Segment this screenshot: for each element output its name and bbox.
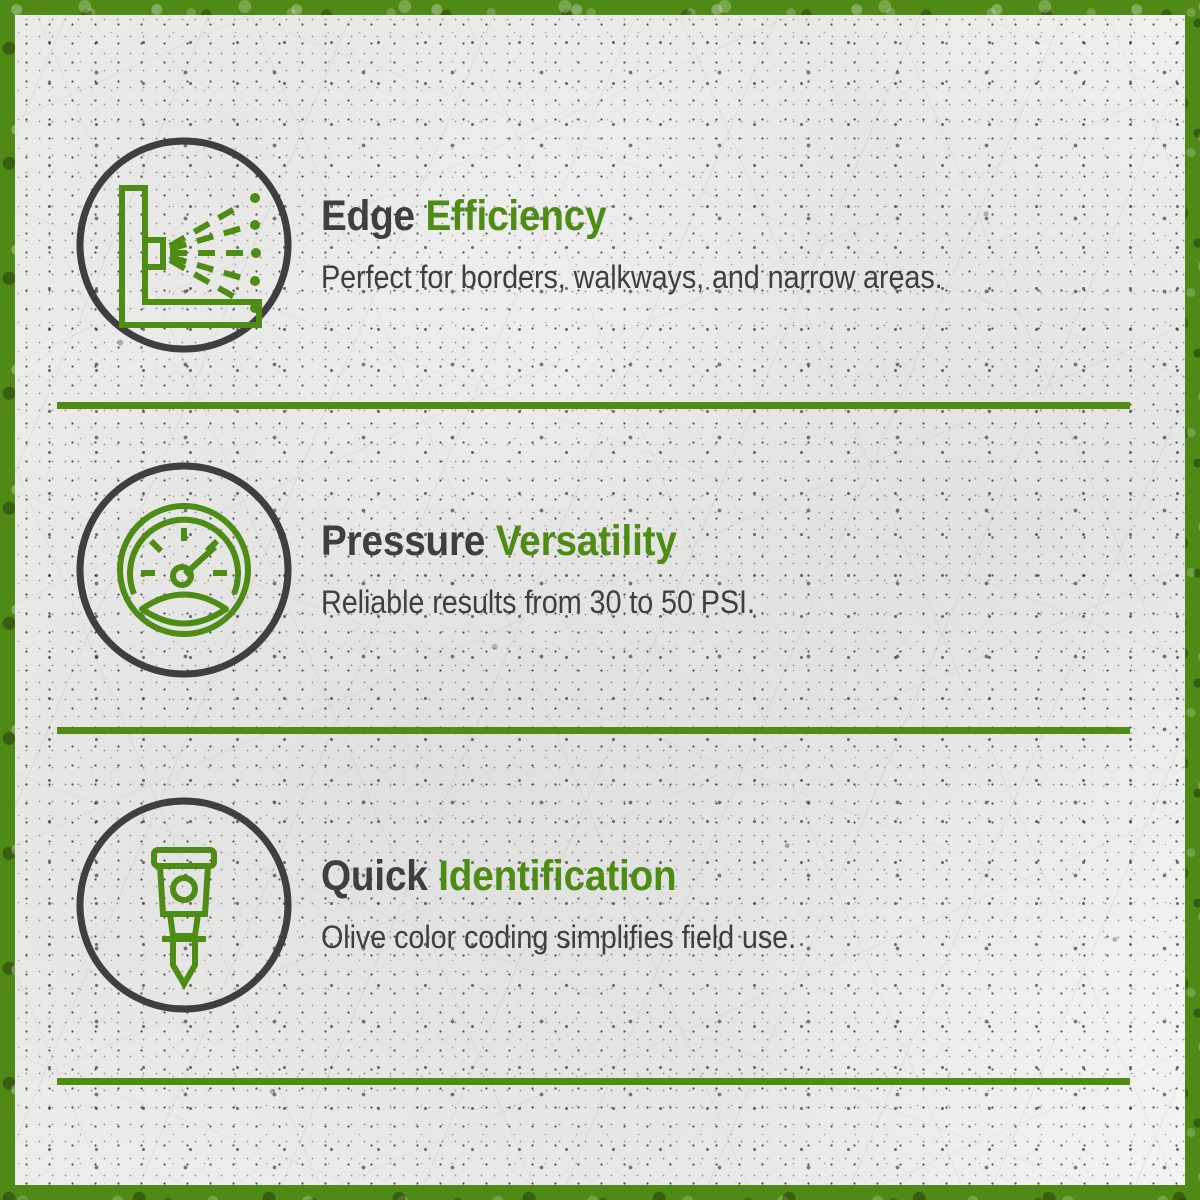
feature-title-accent: Efficiency <box>425 192 606 240</box>
feature-title-primary: Pressure <box>321 517 485 565</box>
feature-list: Edge Efficiency Perfect for borders, wal… <box>15 15 1185 1185</box>
feature-title-accent: Identification <box>438 852 676 900</box>
edge-spray-nozzle-icon <box>75 136 293 354</box>
sprinkler-stake-nozzle-icon <box>75 796 293 1014</box>
feature-row: Pressure Versatility Reliable results fr… <box>15 425 1185 715</box>
feature-description: Reliable results from 30 to 50 PSI. <box>321 585 1063 620</box>
feature-text-block: Edge Efficiency Perfect for borders, wal… <box>321 195 1185 295</box>
feature-row: Edge Efficiency Perfect for borders, wal… <box>15 100 1185 390</box>
feature-infographic: Edge Efficiency Perfect for borders, wal… <box>0 0 1200 1200</box>
feature-row: Quick Identification Olive color coding … <box>15 760 1185 1050</box>
feature-text-block: Pressure Versatility Reliable results fr… <box>321 520 1185 620</box>
section-divider <box>57 402 1130 409</box>
feature-title-primary: Quick <box>321 852 428 900</box>
feature-title: Pressure Versatility <box>321 520 1063 563</box>
feature-title-accent: Versatility <box>496 517 677 565</box>
feature-text-block: Quick Identification Olive color coding … <box>321 855 1185 955</box>
section-divider <box>57 727 1130 734</box>
feature-description: Perfect for borders, walkways, and narro… <box>321 260 1063 295</box>
feature-title: Edge Efficiency <box>321 195 1063 238</box>
feature-description: Olive color coding simplifies field use. <box>321 920 1063 955</box>
pressure-gauge-icon <box>75 461 293 679</box>
feature-title: Quick Identification <box>321 855 1063 898</box>
content-panel: Edge Efficiency Perfect for borders, wal… <box>15 15 1185 1185</box>
feature-title-primary: Edge <box>321 192 415 240</box>
section-divider <box>57 1078 1130 1085</box>
